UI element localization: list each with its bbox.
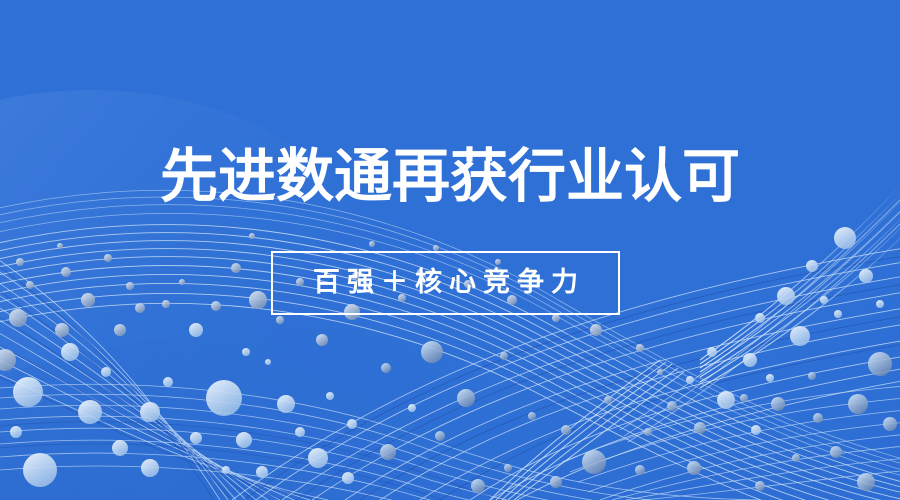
promo-banner: 先进数通再获行业认可 百强＋核心竞争力 [0,0,900,500]
subtitle-badge: 百强＋核心竞争力 [271,251,620,315]
page-title: 先进数通再获行业认可 [0,141,900,211]
subtitle-badge-label: 百强＋核心竞争力 [306,268,585,298]
banner-content: 先进数通再获行业认可 百强＋核心竞争力 [0,0,900,500]
